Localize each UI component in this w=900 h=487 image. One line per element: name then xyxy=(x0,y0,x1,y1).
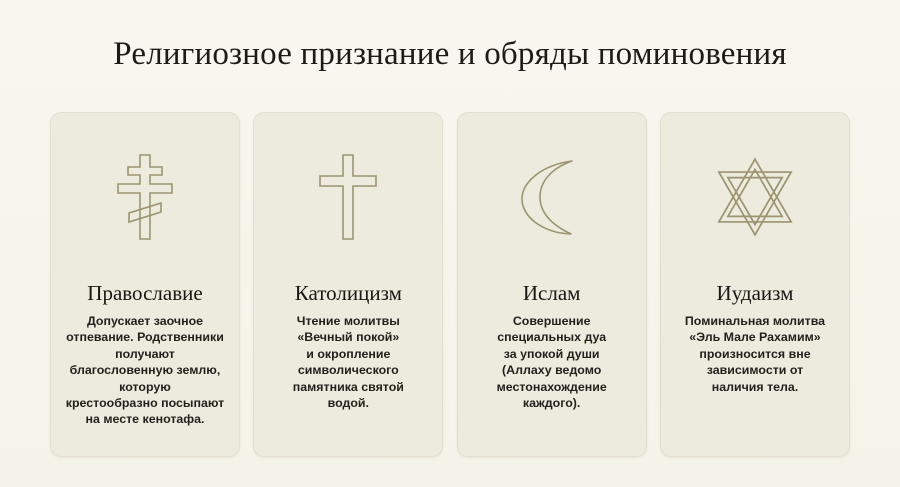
star-of-david-icon xyxy=(669,113,841,281)
card-body: Допускает заочное отпевание. Родственник… xyxy=(66,313,224,428)
religion-card-orthodoxy[interactable]: Православие Допускает заочное отпевание.… xyxy=(50,112,240,457)
card-title: Православие xyxy=(87,281,202,305)
card-title: Ислам xyxy=(523,281,581,305)
card-body: Поминальная молитва «Эль Мале Рахамим» п… xyxy=(685,313,825,395)
religion-card-judaism[interactable]: Иудаизм Поминальная молитва «Эль Мале Ра… xyxy=(660,112,850,457)
crescent-moon-icon xyxy=(466,113,638,281)
card-title: Католицизм xyxy=(295,281,402,305)
slide-background: Религиозное признание и обряды поминовен… xyxy=(0,0,900,487)
religion-card-islam[interactable]: Ислам Совершение специальных дуа за упок… xyxy=(457,112,647,457)
card-body: Чтение молитвы «Вечный покой» и окроплен… xyxy=(293,313,404,411)
card-title: Иудаизм xyxy=(717,281,794,305)
orthodox-cross-icon xyxy=(59,113,231,281)
religion-card-row: Православие Допускает заочное отпевание.… xyxy=(50,112,850,457)
card-body: Совершение специальных дуа за упокой душ… xyxy=(497,313,607,411)
page-title: Религиозное признание и обряды поминовен… xyxy=(0,34,900,74)
latin-cross-icon xyxy=(262,113,434,281)
religion-card-catholicism[interactable]: Католицизм Чтение молитвы «Вечный покой»… xyxy=(253,112,443,457)
